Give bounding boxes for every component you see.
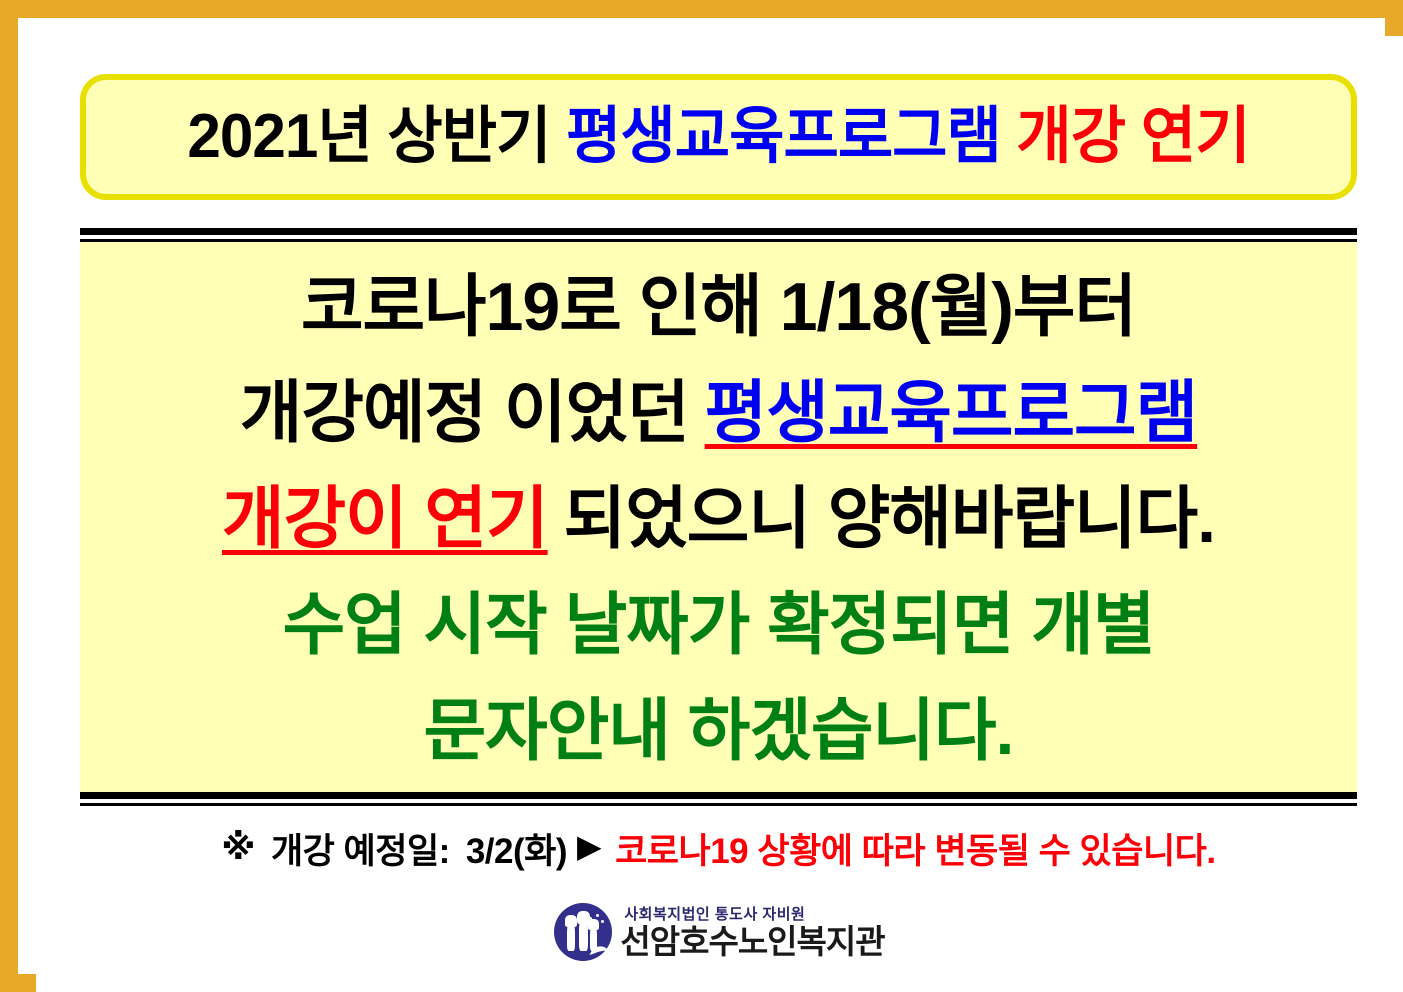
triangle-right-icon: ▶ xyxy=(577,830,601,862)
footnote: ※개강 예정일:3/2(화)▶코로나19 상황에 따라 변동될 수 있습니다. xyxy=(80,818,1357,878)
message-line-4: 수업 시작 날짜가 확정되면 개별 xyxy=(283,572,1155,678)
footnote-label: 개강 예정일: xyxy=(271,823,450,874)
message-line-2-program: 평생교육프로그램 xyxy=(705,379,1197,447)
reference-mark-icon: ※ xyxy=(221,828,255,868)
poster-outer-frame: 2021년 상반기평생교육프로그램개강 연기 코로나19로 인해 1/18(월)… xyxy=(0,0,1403,992)
logo-figure-1-body xyxy=(567,921,575,951)
title-part-program: 평생교육프로그램 xyxy=(566,102,1001,171)
footnote-date: 3/2(화) xyxy=(466,823,567,874)
logo-name: 선암호수노인복지관 xyxy=(620,925,884,958)
logo-inner: 사회복지법인 통도사 자비원 선암호수노인복지관 xyxy=(554,903,884,961)
message-line-1: 코로나19로 인해 1/18(월)부터 xyxy=(301,254,1136,360)
divider-top xyxy=(80,228,1357,242)
message-line-3-suffix: 되었으니 양해바랍니다. xyxy=(564,485,1215,553)
message-line-5: 문자안내 하겠습니다. xyxy=(424,678,1014,784)
page-title: 2021년 상반기평생교육프로그램개강 연기 xyxy=(187,106,1249,168)
logo-text: 사회복지법인 통도사 자비원 선암호수노인복지관 xyxy=(620,907,884,958)
title-part-postponed: 개강 연기 xyxy=(1016,102,1249,171)
message-line-4-text: 수업 시작 날짜가 확정되면 개별 xyxy=(283,591,1155,659)
message-line-2-prefix: 개강예정 이었던 xyxy=(240,379,689,447)
message-line-2: 개강예정 이었던평생교육프로그램 xyxy=(240,360,1197,466)
footnote-warning: 코로나19 상황에 따라 변동될 수 있습니다. xyxy=(615,823,1215,874)
title-banner: 2021년 상반기평생교육프로그램개강 연기 xyxy=(80,74,1357,200)
logo-emblem-icon xyxy=(554,903,612,961)
message-line-1-text: 코로나19로 인해 1/18(월)부터 xyxy=(301,273,1136,341)
divider-bottom xyxy=(80,792,1357,806)
poster-inner-area: 2021년 상반기평생교육프로그램개강 연기 코로나19로 인해 1/18(월)… xyxy=(36,36,1403,992)
message-line-3: 개강이 연기되었으니 양해바랍니다. xyxy=(222,466,1215,572)
title-part-period: 2021년 상반기 xyxy=(187,102,550,171)
logo-stars-icon xyxy=(582,913,604,929)
divider-top-thick xyxy=(80,228,1357,235)
message-line-5-text: 문자안내 하겠습니다. xyxy=(424,697,1014,765)
organization-logo: 사회복지법인 통도사 자비원 선암호수노인복지관 xyxy=(36,892,1403,972)
divider-bottom-thick xyxy=(80,792,1357,799)
message-panel: 코로나19로 인해 1/18(월)부터 개강예정 이었던평생교육프로그램 개강이… xyxy=(80,242,1357,792)
message-line-3-postponed: 개강이 연기 xyxy=(222,485,548,553)
divider-bottom-thin xyxy=(80,803,1357,806)
logo-subtitle: 사회복지법인 통도사 자비원 xyxy=(624,907,884,922)
